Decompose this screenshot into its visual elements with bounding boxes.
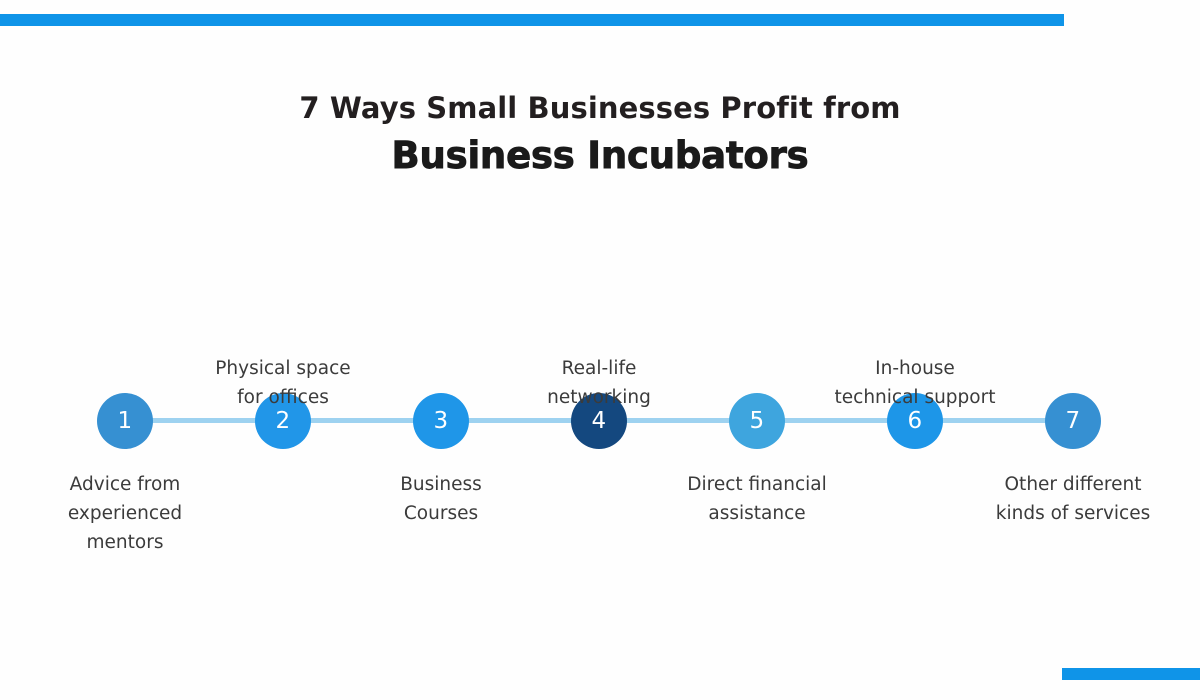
bottom-accent-bar <box>1062 668 1200 680</box>
timeline-node-number: 3 <box>434 410 449 433</box>
timeline-node-5[interactable]: 5 <box>729 393 785 449</box>
timeline-node-3[interactable]: 3 <box>413 393 469 449</box>
timeline-label-line: assistance <box>642 499 872 528</box>
page-title: 7 Ways Small Businesses Profit from Busi… <box>0 86 1200 182</box>
timeline-label-line: kinds of services <box>958 499 1188 528</box>
timeline-node-number: 5 <box>750 410 765 433</box>
timeline-label-line: networking <box>484 383 714 412</box>
timeline-label-line: Direct financial <box>642 470 872 499</box>
timeline-label-line: Physical space <box>168 354 398 383</box>
timeline-node-number: 7 <box>1066 410 1081 433</box>
timeline-node-7[interactable]: 7 <box>1045 393 1101 449</box>
timeline-node-1[interactable]: 1 <box>97 393 153 449</box>
timeline: 1Advice fromexperiencedmentors2Physical … <box>0 280 1200 580</box>
timeline-node-number: 1 <box>118 410 133 433</box>
timeline-label-4: Real-lifenetworking <box>484 354 714 412</box>
timeline-label-line: Real-life <box>484 354 714 383</box>
page-title-line-2: Business Incubators <box>0 130 1200 182</box>
timeline-label-line: Advice from <box>10 470 240 499</box>
timeline-label-line: In-house <box>800 354 1030 383</box>
timeline-label-line: Other different <box>958 470 1188 499</box>
timeline-node-number: 2 <box>276 410 291 433</box>
timeline-node-number: 6 <box>908 410 923 433</box>
timeline-label-3: BusinessCourses <box>326 470 556 528</box>
timeline-label-line: mentors <box>10 528 240 557</box>
timeline-label-2: Physical spacefor offices <box>168 354 398 412</box>
timeline-label-line: for offices <box>168 383 398 412</box>
timeline-label-6: In-housetechnical support <box>800 354 1030 412</box>
page-title-line-1: 7 Ways Small Businesses Profit from <box>0 86 1200 130</box>
timeline-label-line: Courses <box>326 499 556 528</box>
timeline-label-line: Business <box>326 470 556 499</box>
timeline-label-7: Other differentkinds of services <box>958 470 1188 528</box>
timeline-node-number: 4 <box>592 410 607 433</box>
timeline-label-line: technical support <box>800 383 1030 412</box>
timeline-label-line: experienced <box>10 499 240 528</box>
top-accent-bar <box>0 14 1064 26</box>
timeline-label-5: Direct financialassistance <box>642 470 872 528</box>
timeline-label-1: Advice fromexperiencedmentors <box>10 470 240 557</box>
